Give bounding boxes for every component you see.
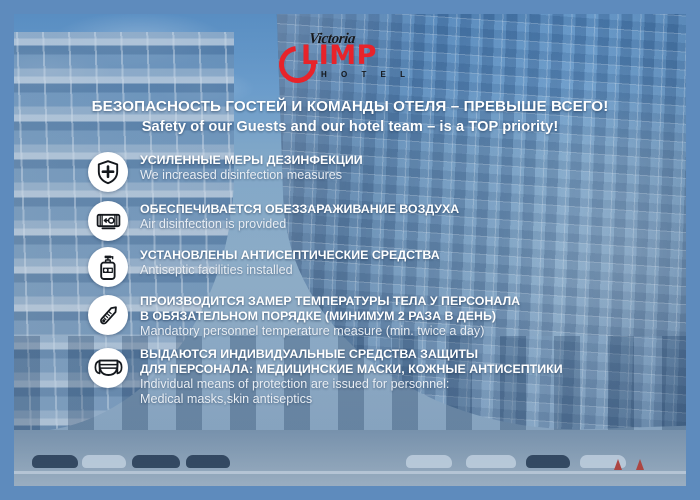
headline-english: Safety of our Guests and our hotel team … <box>14 119 686 135</box>
list-item: ВЫДАЮТСЯ ИНДИВИДУАЛЬНЫЕ СРЕДСТВА ЗАЩИТЫ … <box>88 346 676 408</box>
measure-title-en: Antiseptic facilities installed <box>140 263 440 279</box>
hotel-logo: Victoria LIMP H O T E L <box>14 30 686 88</box>
list-item: УСТАНОВЛЕНЫ АНТИСЕПТИЧЕСКИЕ СРЕДСТВА Ant… <box>88 247 676 287</box>
sanitizer-bottle-icon <box>88 247 128 287</box>
safety-poster: Victoria LIMP H O T E L БЕЗОПАСНОСТЬ ГОС… <box>0 0 700 500</box>
list-item-text: ПРОИЗВОДИТСЯ ЗАМЕР ТЕМПЕРАТУРЫ ТЕЛА У ПЕ… <box>140 293 520 340</box>
poster-content: Victoria LIMP H O T E L БЕЗОПАСНОСТЬ ГОС… <box>14 14 686 486</box>
measure-title-en: Air disinfection is provided <box>140 217 459 233</box>
list-item: ПРОИЗВОДИТСЯ ЗАМЕР ТЕМПЕРАТУРЫ ТЕЛА У ПЕ… <box>88 293 676 340</box>
measure-title-ru: ВЫДАЮТСЯ ИНДИВИДУАЛЬНЫЕ СРЕДСТВА ЗАЩИТЫ <box>140 347 563 362</box>
headline-russian: БЕЗОПАСНОСТЬ ГОСТЕЙ И КОМАНДЫ ОТЕЛЯ – ПР… <box>14 98 686 115</box>
measure-title-ru: УСИЛЕННЫЕ МЕРЫ ДЕЗИНФЕКЦИИ <box>140 153 363 168</box>
list-item-text: УСТАНОВЛЕНЫ АНТИСЕПТИЧЕСКИЕ СРЕДСТВА Ant… <box>140 247 440 279</box>
air-purifier-icon <box>88 201 128 241</box>
list-item: УСИЛЕННЫЕ МЕРЫ ДЕЗИНФЕКЦИИ We increased … <box>88 152 676 192</box>
thermometer-icon <box>88 295 128 335</box>
headline-block: БЕЗОПАСНОСТЬ ГОСТЕЙ И КОМАНДЫ ОТЕЛЯ – ПР… <box>14 98 686 135</box>
list-item-text: ОБЕСПЕЧИВАЕТСЯ ОБЕЗЗАРАЖИВАНИЕ ВОЗДУХА A… <box>140 201 459 233</box>
measure-title-ru-2: ДЛЯ ПЕРСОНАЛА: МЕДИЦИНСКИЕ МАСКИ, КОЖНЫЕ… <box>140 362 563 377</box>
face-mask-icon <box>88 348 128 388</box>
measure-title-en-2: Medical masks,skin antiseptics <box>140 392 563 408</box>
logo-olimp-text: LIMP <box>301 42 377 69</box>
measure-title-ru: ОБЕСПЕЧИВАЕТСЯ ОБЕЗЗАРАЖИВАНИЕ ВОЗДУХА <box>140 202 459 217</box>
measure-title-ru-2: В ОБЯЗАТЕЛЬНОМ ПОРЯДКЕ (МИНИМУМ 2 РАЗА В… <box>140 309 520 324</box>
measure-title-en: Mandatory personnel temperature measure … <box>140 324 520 340</box>
shield-plus-icon <box>88 152 128 192</box>
safety-measures-list: УСИЛЕННЫЕ МЕРЫ ДЕЗИНФЕКЦИИ We increased … <box>88 152 676 414</box>
measure-title-en: Individual means of protection are issue… <box>140 377 563 393</box>
list-item-text: ВЫДАЮТСЯ ИНДИВИДУАЛЬНЫЕ СРЕДСТВА ЗАЩИТЫ … <box>140 346 563 408</box>
measure-title-en: We increased disinfection measures <box>140 168 363 184</box>
measure-title-ru: УСТАНОВЛЕНЫ АНТИСЕПТИЧЕСКИЕ СРЕДСТВА <box>140 248 440 263</box>
list-item-text: УСИЛЕННЫЕ МЕРЫ ДЕЗИНФЕКЦИИ We increased … <box>140 152 363 184</box>
logo-hotel-text: H O T E L <box>321 70 411 79</box>
measure-title-ru: ПРОИЗВОДИТСЯ ЗАМЕР ТЕМПЕРАТУРЫ ТЕЛА У ПЕ… <box>140 294 520 309</box>
list-item: ОБЕСПЕЧИВАЕТСЯ ОБЕЗЗАРАЖИВАНИЕ ВОЗДУХА A… <box>88 201 676 241</box>
